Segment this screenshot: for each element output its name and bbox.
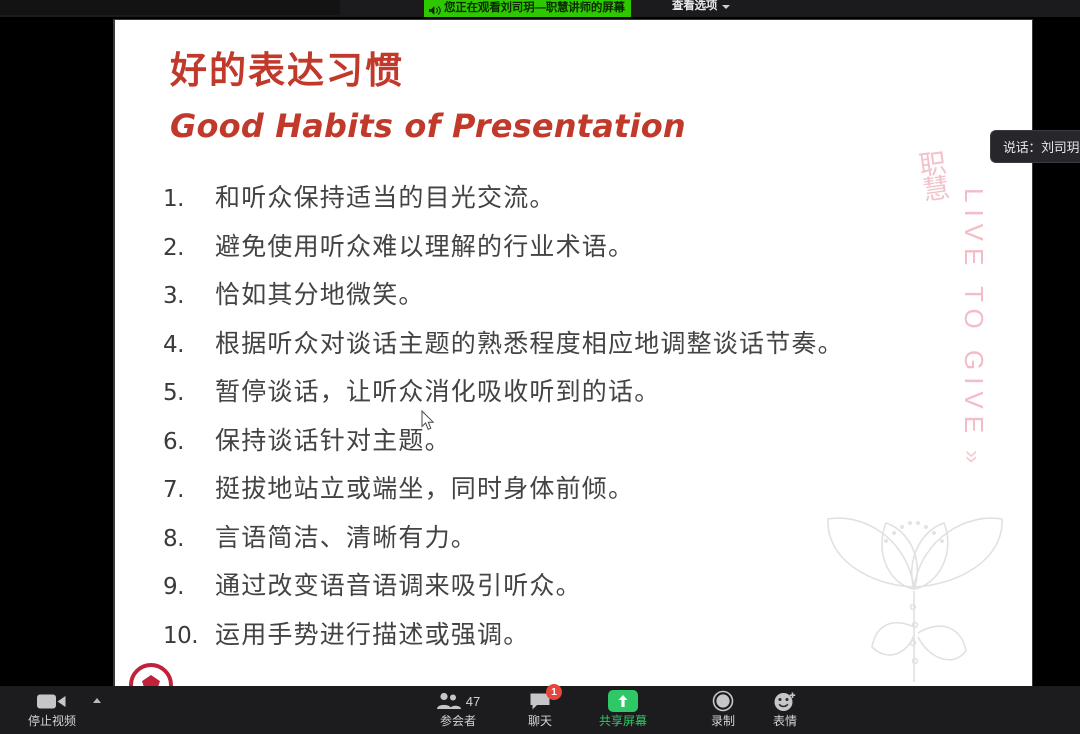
list-item: 10. 运用手势进行描述或强调。 xyxy=(163,615,993,664)
list-item-number: 8. xyxy=(163,526,215,552)
list-item-text: 根据听众对谈话主题的熟悉程度相应地调整谈话节奏。 xyxy=(215,324,844,360)
list-item-number: 9. xyxy=(163,574,215,600)
stop-video-button[interactable]: 停止视频 xyxy=(12,689,92,728)
list-item: 5. 暂停谈话，让听众消化吸收听到的话。 xyxy=(163,372,993,421)
video-options-chevron-icon[interactable] xyxy=(93,698,101,703)
meeting-toolbar: 停止视频 47 参会者 1 聊天 xyxy=(0,686,1080,734)
active-speaker-label: 说话：刘司玥 xyxy=(1003,137,1079,156)
record-circle-icon xyxy=(712,689,734,713)
list-item-text: 通过改变语音语调来吸引听众。 xyxy=(215,566,582,602)
slide-title-chinese: 好的表达习惯 xyxy=(170,52,404,89)
participants-icon: 47 xyxy=(436,689,480,713)
video-camera-icon xyxy=(37,689,67,713)
share-screen-box xyxy=(608,690,638,712)
chat-bubble-icon: 1 xyxy=(529,689,551,713)
participants-count: 47 xyxy=(466,694,480,709)
slide-bullet-list: 1. 和听众保持适当的目光交流。 2. 避免使用听众难以理解的行业术语。 3. … xyxy=(163,178,993,663)
record-label: 录制 xyxy=(711,715,735,728)
list-item-text: 挺拔地站立或端坐，同时身体前倾。 xyxy=(215,469,634,505)
share-screen-button[interactable]: 共享屏幕 xyxy=(583,689,663,728)
list-item-text: 言语简洁、清晰有力。 xyxy=(215,518,477,554)
list-item: 2. 避免使用听众难以理解的行业术语。 xyxy=(163,227,993,276)
view-options-label: 查看选项 xyxy=(672,1,717,13)
chat-unread-badge: 1 xyxy=(546,684,562,700)
list-item-text: 暂停谈话，让听众消化吸收听到的话。 xyxy=(215,372,660,408)
list-item-number: 3. xyxy=(163,283,215,309)
list-item-number: 4. xyxy=(163,332,215,358)
share-screen-up-arrow-icon xyxy=(608,689,638,713)
list-item-text: 避免使用听众难以理解的行业术语。 xyxy=(215,227,634,263)
participants-label: 参会者 xyxy=(440,715,476,728)
list-item: 7. 挺拔地站立或端坐，同时身体前倾。 xyxy=(163,469,993,518)
active-speaker-tooltip: 说话：刘司玥 xyxy=(990,130,1080,163)
chat-label: 聊天 xyxy=(528,715,552,728)
list-item-number: 6. xyxy=(163,429,215,455)
zoom-meeting-window: 您正在观看刘司玥—职慧讲师的屏幕 查看选项 好的表达习惯 Good Habits… xyxy=(0,0,1080,734)
mouse-cursor xyxy=(421,410,436,431)
list-item-text: 运用手势进行描述或强调。 xyxy=(215,615,529,651)
list-item-number: 2. xyxy=(163,235,215,261)
chevron-down-icon xyxy=(722,5,730,9)
list-item: 6. 保持谈话针对主题。 xyxy=(163,421,993,470)
slide-title-english: Good Habits of Presentation xyxy=(170,110,686,142)
list-item: 1. 和听众保持适当的目光交流。 xyxy=(163,178,993,227)
top-bar-left-fill xyxy=(0,0,340,15)
reactions-button[interactable]: 表情 xyxy=(745,689,825,728)
participants-button[interactable]: 47 参会者 xyxy=(418,689,498,728)
shared-slide: 好的表达习惯 Good Habits of Presentation 1. 和听… xyxy=(115,20,1032,687)
reactions-smiley-icon xyxy=(773,689,797,713)
screen-share-banner: 您正在观看刘司玥—职慧讲师的屏幕 xyxy=(424,0,631,17)
list-item-text: 保持谈话针对主题。 xyxy=(215,421,451,457)
list-item-number: 7. xyxy=(163,477,215,503)
list-item: 8. 言语简洁、清晰有力。 xyxy=(163,518,993,567)
reactions-label: 表情 xyxy=(773,715,797,728)
speaker-icon xyxy=(429,3,441,14)
list-item: 3. 恰如其分地微笑。 xyxy=(163,275,993,324)
list-item-number: 5. xyxy=(163,380,215,406)
screen-share-banner-label: 您正在观看刘司玥—职慧讲师的屏幕 xyxy=(444,3,625,15)
list-item-text: 和听众保持适当的目光交流。 xyxy=(215,178,556,214)
stop-video-label: 停止视频 xyxy=(28,715,76,728)
organization-logo-icon xyxy=(129,663,173,687)
list-item: 4. 根据听众对谈话主题的熟悉程度相应地调整谈话节奏。 xyxy=(163,324,993,373)
list-item-number: 10. xyxy=(163,623,215,649)
view-options-button[interactable]: 查看选项 xyxy=(668,1,734,13)
list-item: 9. 通过改变语音语调来吸引听众。 xyxy=(163,566,993,615)
share-screen-label: 共享屏幕 xyxy=(599,715,647,728)
list-item-number: 1. xyxy=(163,186,215,212)
list-item-text: 恰如其分地微笑。 xyxy=(215,275,425,311)
chat-button[interactable]: 1 聊天 xyxy=(500,689,580,728)
